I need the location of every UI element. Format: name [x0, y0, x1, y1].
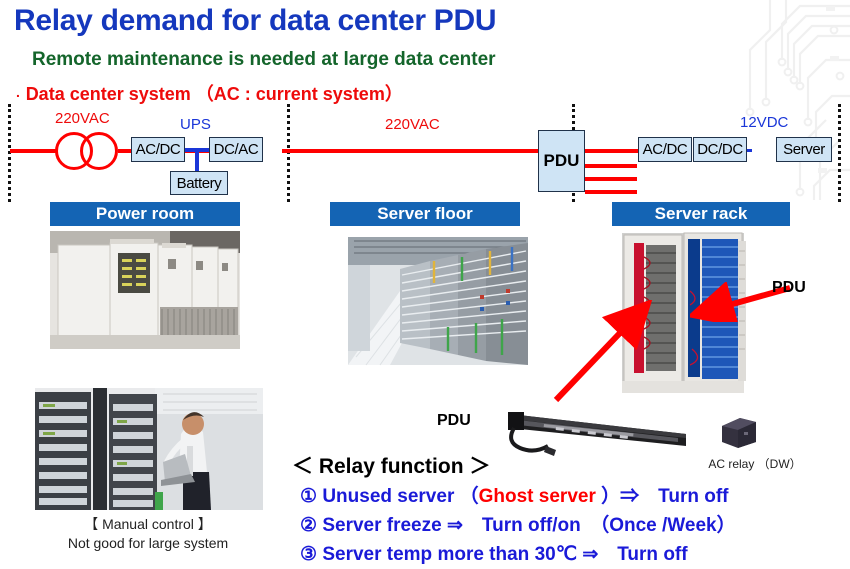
block-pdu[interactable]: PDU — [538, 130, 585, 192]
divider-power-server — [287, 104, 290, 202]
relay-function-header: ＜ Relay function ＞ — [292, 450, 490, 480]
relay-item-3-text: Server temp more than 30℃ ⇒ Turn off — [322, 544, 687, 565]
block-battery[interactable]: Battery — [170, 171, 228, 195]
page-title: Relay demand for data center PDU — [14, 4, 496, 38]
label-ups: UPS — [180, 116, 211, 133]
pdu-output-2 — [585, 177, 637, 181]
caption-manual-control: 【 Manual control 】 Not good for large sy… — [18, 515, 278, 553]
bullet-text: Data center system （AC : current system） — [26, 84, 403, 104]
label-220vac-left: 220VAC — [55, 110, 110, 127]
bullet-data-center-system: · Data center system （AC : current syste… — [16, 80, 403, 106]
pdu-output-3 — [585, 190, 637, 194]
transformer-symbol-b — [80, 132, 118, 170]
relay-item-1: ① Unused server （Ghost server ）⇒ Turn of… — [300, 481, 728, 508]
divider-left — [8, 104, 11, 202]
banner-server-rack: Server rack — [612, 202, 790, 226]
banner-power-room: Power room — [50, 202, 240, 226]
relay-item-1-highlight: Ghost server — [479, 486, 596, 507]
wire-pdu-to-acdc — [585, 149, 640, 153]
page-subtitle: Remote maintenance is needed at large da… — [32, 49, 496, 71]
relay-item-2: ② Server freeze ⇒ Turn off/on （Once /Wee… — [300, 510, 736, 537]
caption-ac-relay: AC relay （DW） — [700, 455, 810, 472]
relay-item-1-post: ）⇒ Turn off — [596, 486, 729, 507]
relay-item-2-number: ② — [300, 515, 317, 536]
photo-manual-control-rack — [35, 388, 263, 510]
banner-server-floor: Server floor — [330, 202, 520, 226]
relay-item-3: ③ Server temp more than 30℃ ⇒ Turn off — [300, 539, 688, 566]
label-12vdc: 12VDC — [740, 114, 788, 131]
relay-item-1-number: ① — [300, 486, 317, 507]
relay-item-2-text: Server freeze ⇒ Turn off/on （Once /Week） — [322, 515, 735, 536]
block-server[interactable]: Server — [776, 137, 832, 162]
block-dc-dc[interactable]: DC/DC — [693, 137, 747, 162]
single-line-diagram: AC/DC DC/AC Battery PDU AC/DC DC/DC Serv… — [0, 104, 850, 202]
photo-server-rack — [612, 231, 752, 395]
relay-item-3-number: ③ — [300, 544, 317, 565]
divider-right — [838, 104, 841, 202]
pdu-output-1 — [585, 164, 637, 168]
block-dc-ac[interactable]: DC/AC — [209, 137, 263, 162]
bullet-marker: · — [16, 87, 21, 103]
label-220vac-mid: 220VAC — [385, 116, 440, 133]
callout-pdu-strip: PDU — [437, 412, 471, 430]
photo-pdu-strip — [498, 398, 698, 460]
block-ac-dc-right[interactable]: AC/DC — [638, 137, 692, 162]
photo-server-floor — [330, 231, 535, 371]
callout-pdu-rack: PDU — [772, 279, 806, 297]
wire-source-to-xfmr — [10, 149, 58, 153]
relay-item-1-pre: Unused server （ — [322, 486, 478, 507]
caption-manual-line2: Not good for large system — [18, 534, 278, 553]
wire-ups-to-pdu — [282, 149, 538, 153]
photo-power-room — [50, 231, 240, 349]
caption-manual-line1: 【 Manual control 】 — [18, 515, 278, 534]
block-ac-dc-left[interactable]: AC/DC — [131, 137, 185, 162]
slide-root: Relay demand for data center PDU Remote … — [0, 0, 850, 569]
wire-xfmr-to-acdc — [118, 149, 132, 153]
photo-ac-relay — [716, 412, 760, 452]
